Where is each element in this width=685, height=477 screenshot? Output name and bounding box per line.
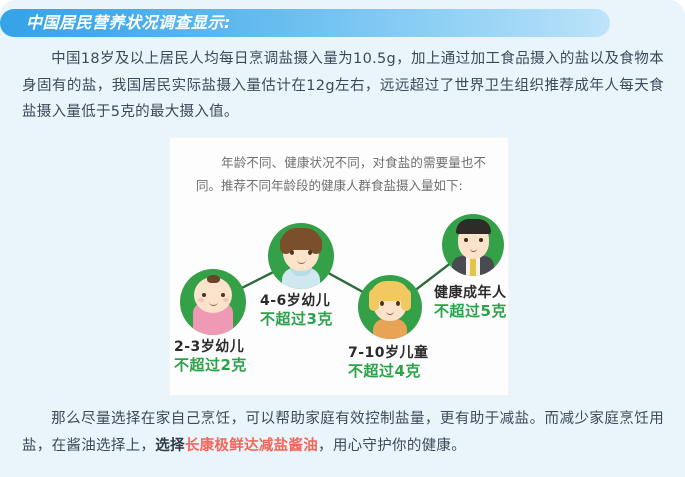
adult-avatar [442, 214, 504, 276]
group-label-adult: 健康成年人 不超过5克 [434, 284, 507, 321]
content-panel: 中国居民营养状况调查显示: 中国18岁及以上居民人均每日烹调盐摄入量为10.5g… [0, 0, 685, 477]
baby-hair [207, 275, 220, 283]
outro-text-part2: ，用心守护你的健康。 [318, 438, 466, 454]
baby-cheek-right [223, 298, 229, 302]
girl-child-hair-right [401, 289, 411, 311]
article-page: 中国居民营养状况调查显示: 中国18岁及以上居民人均每日烹调盐摄入量为10.5g… [0, 0, 685, 477]
adult-tie [470, 258, 476, 276]
card-caption-text: 年龄不同、健康状况不同，对食盐的需要量也不同。推荐不同年龄段的健康人群食盐摄入量… [196, 155, 486, 193]
baby-eye-right [221, 293, 225, 297]
girl-child-avatar [358, 275, 422, 339]
group-limit-2-3: 不超过2克 [174, 356, 247, 375]
page-title: 中国居民营养状况调查显示: [26, 13, 231, 33]
girl-child-hair-left [369, 289, 379, 311]
outro-pick-word: 选择 [155, 438, 185, 454]
baby-avatar [180, 269, 246, 335]
adult-eye-left [464, 238, 468, 242]
group-limit-4-6: 不超过3克 [260, 310, 333, 329]
group-age-4-6: 4-6岁幼儿 [260, 292, 333, 310]
baby-eye-left [202, 293, 206, 297]
card-caption: 年龄不同、健康状况不同，对食盐的需要量也不同。推荐不同年龄段的健康人群食盐摄入量… [196, 151, 486, 197]
group-label-7-10: 7-10岁儿童 不超过4克 [348, 344, 429, 381]
group-label-2-3: 2-3岁幼儿 不超过2克 [174, 338, 247, 375]
adult-eye-right [479, 238, 483, 242]
group-limit-7-10: 不超过4克 [348, 362, 429, 381]
young-child-avatar [268, 223, 334, 289]
group-age-adult: 健康成年人 [434, 284, 507, 302]
adult-hair [456, 219, 491, 234]
girl-child-eye-right [396, 301, 400, 306]
intro-paragraph: 中国18岁及以上居民人均每日烹调盐摄入量为10.5g，加上通过加工食品摄入的盐以… [22, 46, 664, 126]
outro-paragraph: 那么尽量选择在家自己烹饪，可以帮助家庭有效控制盐量，更有助于减盐。而减少家庭烹饪… [22, 406, 664, 459]
brand-name: 长康极鲜达减盐酱油 [185, 438, 318, 454]
girl-child-body [373, 319, 407, 339]
baby-cheek-left [198, 298, 204, 302]
intro-text: 中国18岁及以上居民人均每日烹调盐摄入量为10.5g，加上通过加工食品摄入的盐以… [22, 51, 664, 120]
young-child-eye-right [308, 250, 312, 255]
group-age-2-3: 2-3岁幼儿 [174, 338, 247, 356]
salt-intake-figure: 2-3岁幼儿 不超过2克 4-6岁幼儿 不超过3克 7-10岁儿童 不超过4克 … [170, 196, 508, 395]
salt-intake-card: 年龄不同、健康状况不同，对食盐的需要量也不同。推荐不同年龄段的健康人群食盐摄入量… [170, 138, 508, 395]
group-label-4-6: 4-6岁幼儿 不超过3克 [260, 292, 333, 329]
group-age-7-10: 7-10岁儿童 [348, 344, 429, 362]
young-child-eye-left [290, 250, 294, 255]
group-limit-adult: 不超过5克 [434, 302, 507, 321]
girl-child-eye-left [380, 301, 384, 306]
